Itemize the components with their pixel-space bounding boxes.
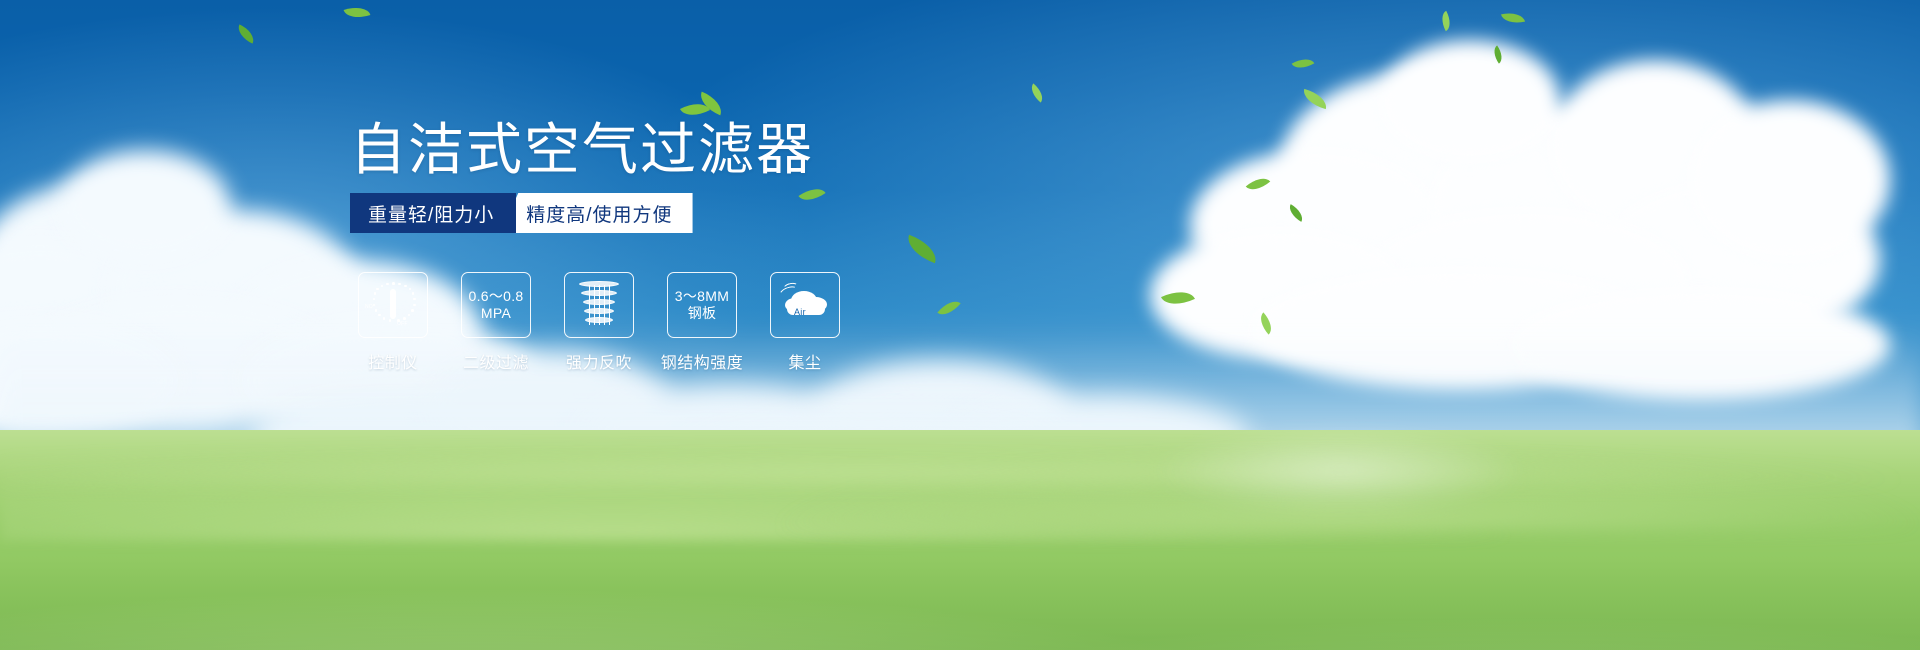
steel-value-line2: 钢板 xyxy=(688,305,717,322)
pressure-value-line2: MPA xyxy=(481,305,511,322)
air-label: Air xyxy=(794,307,806,317)
title-leaf-icon xyxy=(682,90,728,124)
pressure-value-line1: 0.6〜0.8 xyxy=(468,288,523,305)
title-block: 自洁式空气过滤器 xyxy=(350,118,814,182)
feature-box: 0.6〜0.8 MPA xyxy=(461,272,531,338)
page-title: 自洁式空气过滤器 xyxy=(350,118,814,182)
feature-box: 3〜8MM 钢板 xyxy=(667,272,737,338)
feature-label: 集尘 xyxy=(788,349,821,373)
feature-box: NO OFF xyxy=(358,272,428,338)
cloud-air-icon: Air xyxy=(781,285,829,325)
tag-secondary: 精度高/使用方便 xyxy=(500,193,692,233)
gauge-icon: NO OFF xyxy=(366,280,420,330)
filter-stack-icon xyxy=(579,281,619,329)
hero-banner: 自洁式空气过滤器 重量轻/阻力小 精度高/使用方便 xyxy=(0,0,1920,650)
feature-label: 控制仪 xyxy=(368,349,418,373)
gauge-needle xyxy=(390,289,396,319)
gauge-off-label: OFF xyxy=(397,321,408,327)
feature-label: 二级过滤 xyxy=(463,349,529,373)
feature-box: Air xyxy=(770,272,840,338)
tag-primary: 重量轻/阻力小 xyxy=(350,193,516,233)
feature-item-pressure: 0.6〜0.8 MPA 二级过滤 xyxy=(461,272,531,373)
feature-item-dust: Air 集尘 xyxy=(770,272,840,373)
steel-value-line1: 3〜8MM xyxy=(675,288,729,305)
feature-item-controller: NO OFF 控制仪 xyxy=(358,272,428,373)
tag-group: 重量轻/阻力小 精度高/使用方便 xyxy=(350,193,693,233)
feature-item-blowback: 强力反吹 xyxy=(564,272,634,373)
gauge-on-label: NO xyxy=(365,304,373,310)
feature-list: NO OFF 控制仪 0.6〜0.8 MPA 二级过滤 xyxy=(358,272,840,373)
feature-box xyxy=(564,272,634,338)
feature-label: 强力反吹 xyxy=(566,349,632,373)
feature-item-steel: 3〜8MM 钢板 钢结构强度 xyxy=(667,272,737,373)
banner-content: 自洁式空气过滤器 重量轻/阻力小 精度高/使用方便 xyxy=(0,0,1920,650)
feature-label: 钢结构强度 xyxy=(661,349,744,373)
